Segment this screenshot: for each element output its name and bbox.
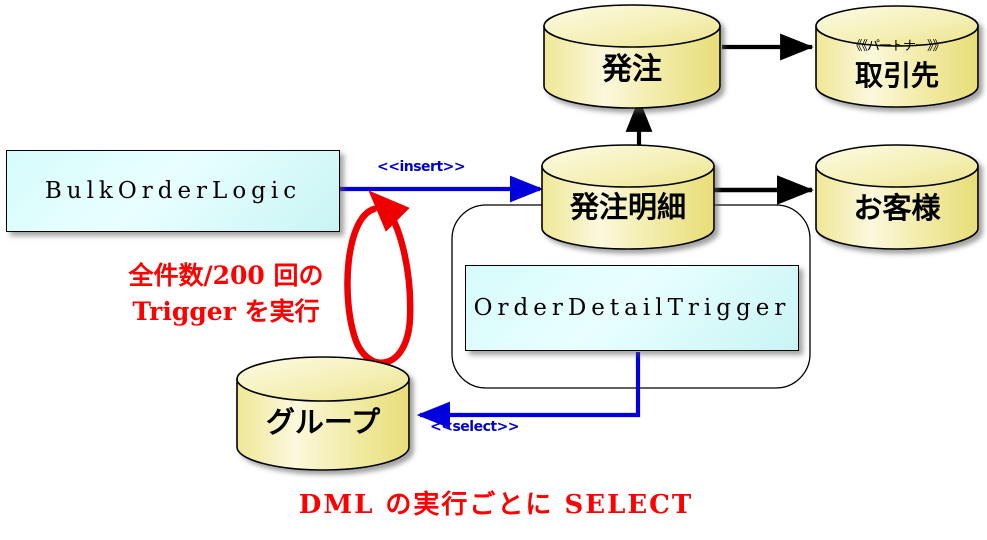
database-hacchu[interactable]: 発注: [540, 4, 724, 108]
note-loop-count-line2: Trigger を実行: [92, 294, 360, 330]
note-loop-count: 全件数/200 回の Trigger を実行: [92, 258, 360, 330]
class-label-order-detail-trigger: OrderDetailTrigger: [474, 295, 791, 321]
class-box-order-detail-trigger[interactable]: OrderDetailTrigger: [465, 265, 799, 351]
diagram-canvas: BulkOrderLogic OrderDetailTrigger 発注 《《パ…: [0, 0, 987, 540]
class-label-bulk-order-logic: BulkOrderLogic: [45, 178, 301, 204]
note-bottom-select: DML の実行ごとに SELECT: [246, 484, 746, 521]
database-group[interactable]: グループ: [233, 355, 413, 472]
note-bottom-select-text: DML の実行ごとに SELECT: [246, 484, 746, 521]
database-okyakusama[interactable]: お客様: [812, 144, 982, 250]
edge-label-select: <<select>>: [430, 419, 519, 435]
edge-label-insert: <<insert>>: [377, 159, 465, 175]
class-box-bulk-order-logic[interactable]: BulkOrderLogic: [6, 150, 340, 232]
database-torihikisaki[interactable]: 《《パートナー》》 取引先: [812, 4, 982, 108]
database-hacchu-meisai[interactable]: 発注明細: [538, 144, 718, 250]
note-loop-count-line1: 全件数/200 回の: [92, 258, 360, 294]
